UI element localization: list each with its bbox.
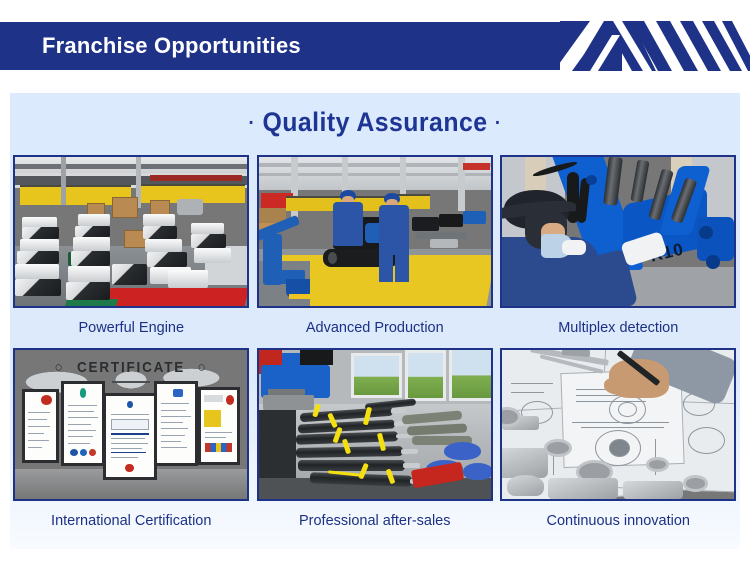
certificate-dot-left: ○ xyxy=(54,359,64,376)
feature-row: ○ CERTIFICATE ○ xyxy=(13,348,737,541)
feature-cell[interactable]: Advanced Production xyxy=(257,155,494,348)
feature-cell[interactable]: R10 Multiplex detection xyxy=(500,155,737,348)
feature-cell[interactable]: ○ CERTIFICATE ○ xyxy=(13,348,250,541)
feature-caption: International Certification xyxy=(13,501,250,541)
feature-caption: Professional after-sales xyxy=(257,501,494,541)
feature-cell[interactable]: Professional after-sales xyxy=(257,348,494,541)
feature-grid: Powerful Engine xyxy=(13,155,737,541)
section-title: · Quality Assurance · xyxy=(39,107,711,138)
section-title-text: Quality Assurance xyxy=(262,107,487,137)
inspection-worker-photo[interactable]: R10 xyxy=(500,155,736,308)
feature-row: Powerful Engine xyxy=(13,155,737,348)
certificate-heading-text: CERTIFICATE xyxy=(77,359,185,376)
feature-caption: Multiplex detection xyxy=(500,308,737,348)
feature-caption: Continuous innovation xyxy=(500,501,737,541)
assembly-line-photo[interactable] xyxy=(257,155,493,308)
certificate-heading: ○ CERTIFICATE ○ xyxy=(15,359,247,376)
title-dot-right: · xyxy=(495,112,502,134)
certificates-photo[interactable]: ○ CERTIFICATE ○ xyxy=(13,348,249,501)
feature-cell[interactable]: Continuous innovation xyxy=(500,348,737,541)
title-dot-left: · xyxy=(249,112,256,134)
page-root: Franchise Opportunities · Quality Assura… xyxy=(0,0,750,569)
feature-cell[interactable]: Powerful Engine xyxy=(13,155,250,348)
feature-caption: Powerful Engine xyxy=(13,308,250,348)
company-stripes-logo xyxy=(560,21,750,71)
page-title: Franchise Opportunities xyxy=(42,22,301,70)
warehouse-engines-photo[interactable] xyxy=(13,155,249,308)
page-header: Franchise Opportunities xyxy=(0,22,750,70)
hydraulic-cylinders-photo[interactable] xyxy=(257,348,493,501)
certificate-dot-right: ○ xyxy=(198,359,208,376)
feature-caption: Advanced Production xyxy=(257,308,494,348)
quality-assurance-panel: · Quality Assurance · xyxy=(10,93,740,549)
engineering-drawings-photo[interactable] xyxy=(500,348,736,501)
